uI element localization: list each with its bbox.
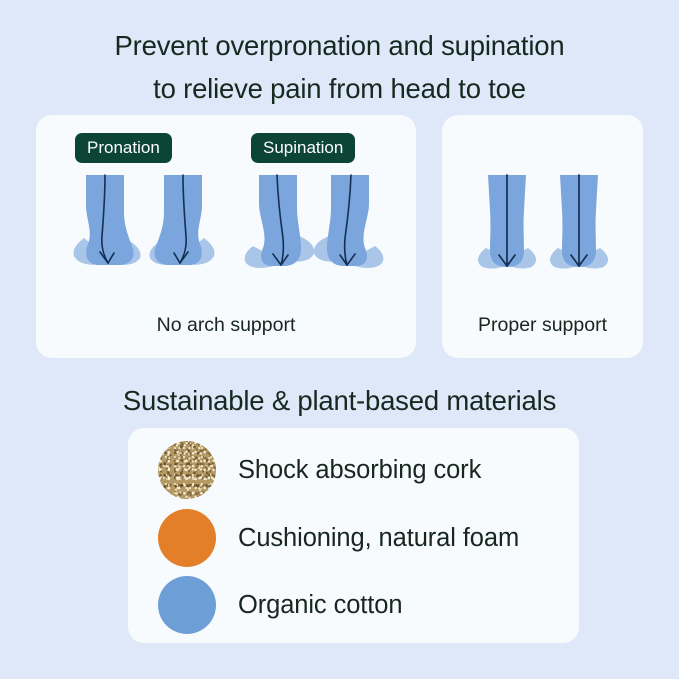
list-item: Organic cotton [158,576,402,634]
materials-list: Shock absorbing cork Cushioning, natural… [128,428,579,643]
pronation-right-leg [150,175,215,265]
list-item: Shock absorbing cork [158,441,481,499]
no-arch-support-caption: No arch support [36,314,416,337]
proper-right-leg [550,175,608,269]
supination-legs-illustration [237,170,397,295]
foam-swatch-icon [158,509,216,567]
material-label: Shock absorbing cork [238,456,481,485]
page-title: Prevent overpronation and supination to … [0,24,679,110]
proper-support-legs-illustration [470,170,620,295]
pronation-badge: Pronation [75,133,172,163]
cotton-swatch-icon [158,576,216,634]
infographic-root: Prevent overpronation and supination to … [0,0,679,679]
headline-line-1: Prevent overpronation and supination [0,24,679,67]
supination-left-leg [245,175,314,268]
proper-support-caption: Proper support [442,314,643,337]
material-label: Organic cotton [238,591,402,620]
proper-left-leg [478,175,536,269]
materials-section-heading: Sustainable & plant-based materials [0,384,679,418]
material-label: Cushioning, natural foam [238,524,519,553]
supination-badge: Supination [251,133,355,163]
list-item: Cushioning, natural foam [158,509,519,567]
headline-line-2: to relieve pain from head to toe [0,67,679,110]
supination-right-leg [314,175,383,268]
pronation-left-leg [73,175,140,265]
pronation-legs-illustration [62,170,222,295]
cork-swatch-icon [158,441,216,499]
